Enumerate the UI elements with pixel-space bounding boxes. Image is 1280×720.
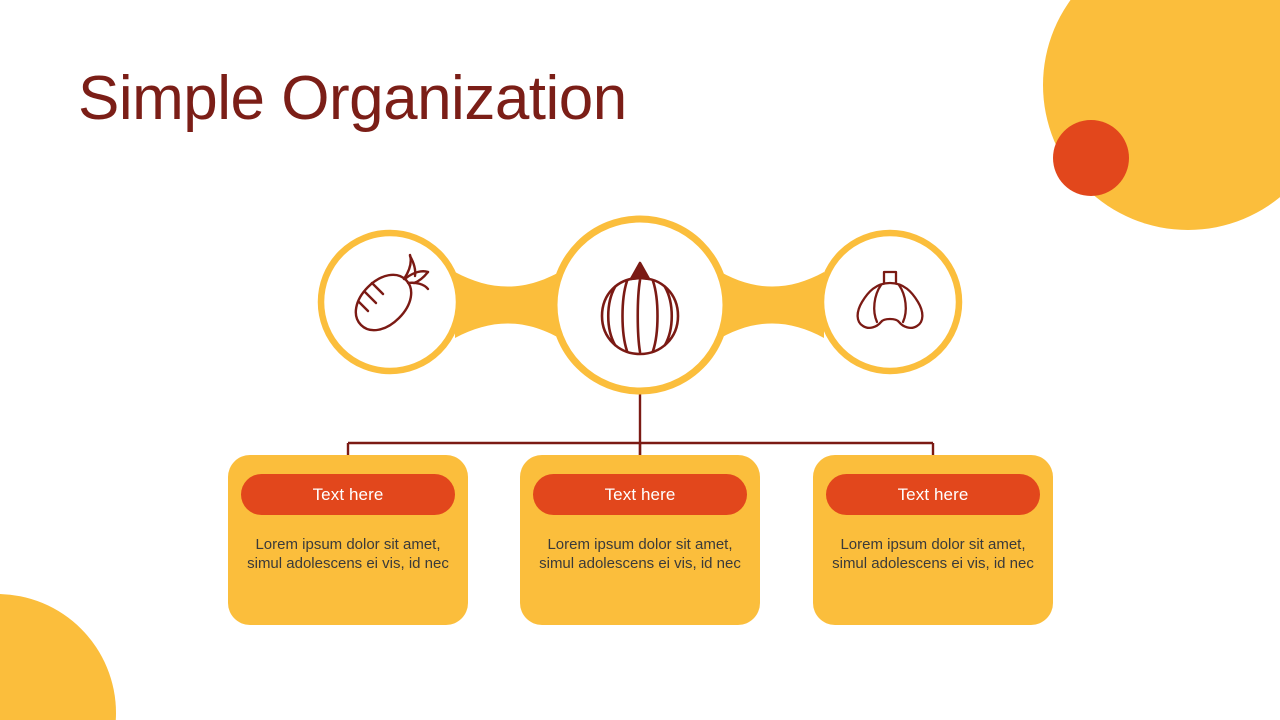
org-card-1[interactable]: Text here Lorem ipsum dolor sit amet, si… bbox=[228, 455, 468, 625]
node-onion-ring[interactable] bbox=[554, 219, 726, 391]
node-carrot-ring[interactable] bbox=[321, 233, 459, 371]
card-2-heading-label: Text here bbox=[605, 485, 676, 505]
slide-canvas: Simple Organization bbox=[0, 0, 1280, 720]
card-1-heading-pill[interactable]: Text here bbox=[241, 474, 455, 515]
yellow-circle-bottom-left bbox=[0, 594, 116, 720]
connector-onion-garlic bbox=[714, 268, 824, 342]
tree-connector-lines bbox=[348, 385, 933, 460]
node-garlic[interactable] bbox=[821, 233, 959, 371]
card-1-heading-label: Text here bbox=[313, 485, 384, 505]
card-1-body-text: Lorem ipsum dolor sit amet, simul adoles… bbox=[242, 535, 454, 573]
node-onion[interactable] bbox=[554, 219, 726, 391]
card-2-heading-pill[interactable]: Text here bbox=[533, 474, 747, 515]
connector-carrot-onion bbox=[455, 268, 566, 342]
page-title: Simple Organization bbox=[78, 66, 627, 131]
card-3-heading-label: Text here bbox=[898, 485, 969, 505]
org-card-3[interactable]: Text here Lorem ipsum dolor sit amet, si… bbox=[813, 455, 1053, 625]
yellow-circle-top-right bbox=[1043, 0, 1280, 230]
node-garlic-ring[interactable] bbox=[821, 233, 959, 371]
orange-circle-top-right bbox=[1053, 120, 1129, 196]
org-card-2[interactable]: Text here Lorem ipsum dolor sit amet, si… bbox=[520, 455, 760, 625]
node-carrot[interactable] bbox=[321, 233, 459, 371]
card-2-body-text: Lorem ipsum dolor sit amet, simul adoles… bbox=[534, 535, 746, 573]
card-3-body-text: Lorem ipsum dolor sit amet, simul adoles… bbox=[827, 535, 1039, 573]
card-3-heading-pill[interactable]: Text here bbox=[826, 474, 1040, 515]
